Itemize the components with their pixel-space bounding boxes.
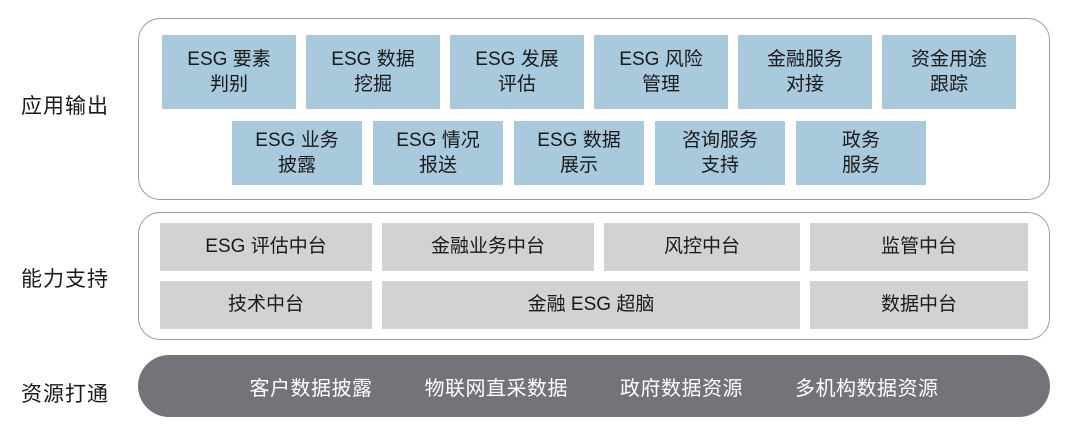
- application-box-fund-usage-tracking[interactable]: 资金用途 跟踪: [882, 35, 1016, 109]
- box-line-1: ESG 业务: [255, 128, 338, 153]
- box-line-2: 判别: [210, 72, 248, 97]
- box-line-1: 监管中台: [881, 234, 957, 259]
- architecture-diagram: 应用输出 能力支持 资源打通 ESG 要素 判别 ESG 数据 挖掘 ESG 发…: [0, 0, 1080, 447]
- layer-label-application: 应用输出: [0, 90, 130, 120]
- box-line-1: 金融业务中台: [431, 234, 545, 259]
- box-line-1: 金融服务: [767, 47, 843, 72]
- capability-row-2: 技术中台 金融 ESG 超脑 数据中台: [160, 281, 1028, 329]
- box-line-2: 服务: [842, 153, 880, 178]
- box-line-1: 资金用途: [911, 47, 987, 72]
- application-box-esg-development-assessment[interactable]: ESG 发展 评估: [450, 35, 584, 109]
- box-line-2: 管理: [642, 72, 680, 97]
- box-line-1: 数据中台: [881, 292, 957, 317]
- box-line-2: 报送: [419, 153, 457, 178]
- box-line-2: 评估: [498, 72, 536, 97]
- capability-box-risk-control-platform[interactable]: 风控中台: [604, 223, 800, 271]
- capability-row-1: ESG 评估中台 金融业务中台 风控中台 监管中台: [160, 223, 1028, 271]
- box-line-1: 风控中台: [664, 234, 740, 259]
- layer-label-resource: 资源打通: [0, 378, 130, 408]
- box-line-1: 金融 ESG 超脑: [528, 292, 655, 317]
- application-box-esg-data-display[interactable]: ESG 数据 展示: [514, 121, 644, 185]
- capability-box-technology-platform[interactable]: 技术中台: [160, 281, 372, 329]
- box-line-2: 挖掘: [354, 72, 392, 97]
- capability-box-data-platform[interactable]: 数据中台: [810, 281, 1028, 329]
- box-line-2: 支持: [701, 153, 739, 178]
- application-box-consulting-service-support[interactable]: 咨询服务 支持: [655, 121, 785, 185]
- application-box-esg-risk-management[interactable]: ESG 风险 管理: [594, 35, 728, 109]
- capability-box-esg-assessment-platform[interactable]: ESG 评估中台: [160, 223, 372, 271]
- layer-label-capability: 能力支持: [0, 263, 130, 293]
- box-line-1: ESG 情况: [396, 128, 479, 153]
- application-box-esg-business-disclosure[interactable]: ESG 业务 披露: [232, 121, 362, 185]
- application-box-government-service[interactable]: 政务 服务: [796, 121, 926, 185]
- capability-box-regulatory-platform[interactable]: 监管中台: [810, 223, 1028, 271]
- application-row-2: ESG 业务 披露 ESG 情况 报送 ESG 数据 展示 咨询服务 支持 政务…: [232, 121, 926, 185]
- box-line-1: 政务: [842, 128, 880, 153]
- application-row-1: ESG 要素 判别 ESG 数据 挖掘 ESG 发展 评估 ESG 风险 管理 …: [162, 35, 1016, 109]
- box-line-1: ESG 要素: [187, 47, 270, 72]
- box-line-1: ESG 风险: [619, 47, 702, 72]
- box-line-1: ESG 数据: [537, 128, 620, 153]
- box-line-1: ESG 评估中台: [205, 234, 326, 259]
- resource-item-iot-direct-collection-data[interactable]: 物联网直采数据: [425, 372, 569, 401]
- application-box-esg-data-mining[interactable]: ESG 数据 挖掘: [306, 35, 440, 109]
- box-line-1: 技术中台: [228, 292, 304, 317]
- resource-item-government-data-resources[interactable]: 政府数据资源: [620, 372, 743, 401]
- application-box-financial-service-connection[interactable]: 金融服务 对接: [738, 35, 872, 109]
- capability-box-financial-esg-super-brain[interactable]: 金融 ESG 超脑: [382, 281, 800, 329]
- box-line-2: 披露: [278, 153, 316, 178]
- box-line-2: 跟踪: [930, 72, 968, 97]
- box-line-1: ESG 数据: [331, 47, 414, 72]
- box-line-1: 咨询服务: [682, 128, 758, 153]
- application-box-esg-status-reporting[interactable]: ESG 情况 报送: [373, 121, 503, 185]
- resource-item-customer-data-disclosure[interactable]: 客户数据披露: [250, 372, 373, 401]
- application-box-esg-element-identification[interactable]: ESG 要素 判别: [162, 35, 296, 109]
- box-line-2: 展示: [560, 153, 598, 178]
- capability-box-financial-business-platform[interactable]: 金融业务中台: [382, 223, 594, 271]
- resource-item-multi-institution-data-resources[interactable]: 多机构数据资源: [795, 372, 939, 401]
- box-line-1: ESG 发展: [475, 47, 558, 72]
- resource-integration-bar: 客户数据披露 物联网直采数据 政府数据资源 多机构数据资源: [138, 355, 1050, 417]
- box-line-2: 对接: [786, 72, 824, 97]
